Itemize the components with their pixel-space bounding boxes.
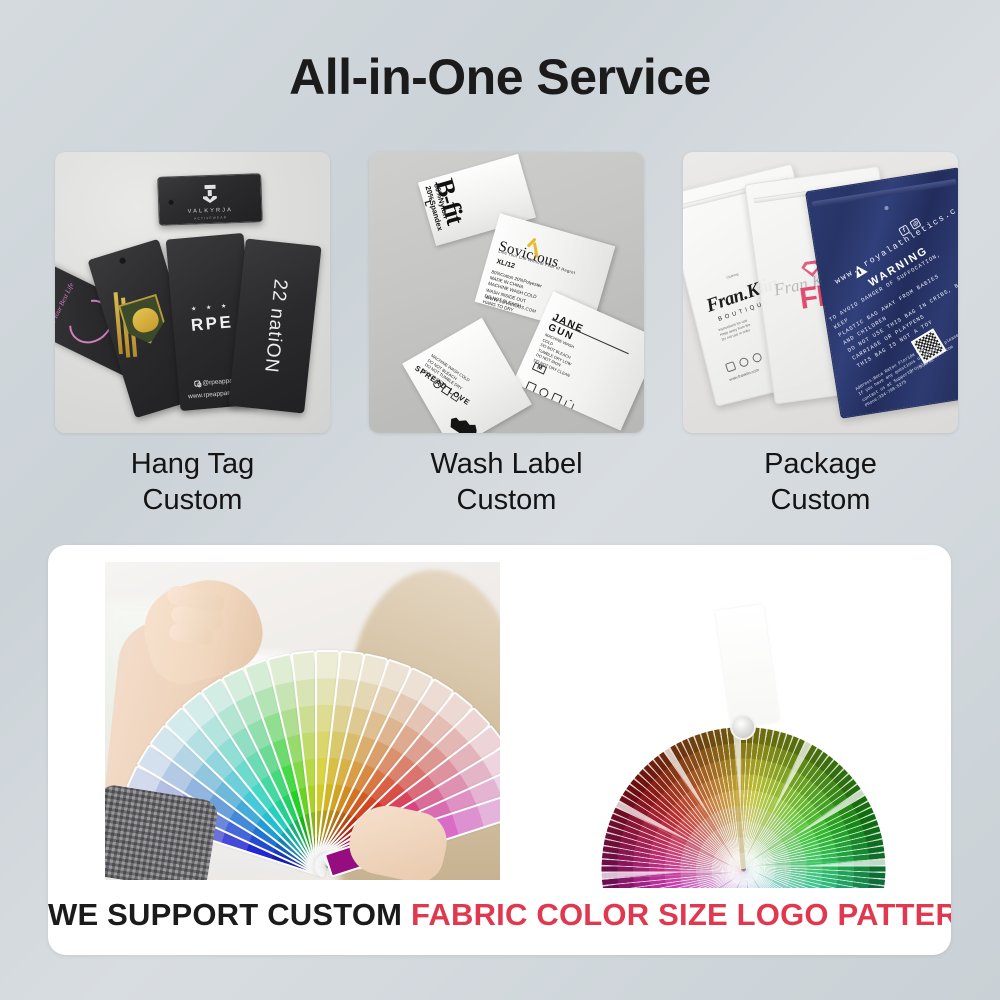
support-highlight-text: FABRIC COLOR SIZE LOGO PATTERN	[411, 897, 951, 932]
caption-wash-label: Wash Label Custom	[369, 446, 644, 518]
wheel-white-tab	[715, 604, 779, 728]
hang-tag-photo-card[interactable]: VALKYRJA ACTIVEWEAR Live Your Best Life …	[55, 152, 330, 433]
instagram-icon	[194, 380, 201, 387]
franklin-top-text: Clothing	[726, 272, 739, 280]
package-photo-card[interactable]: Clothing Fran.Klin BOUTIQUE Instructions…	[683, 152, 958, 433]
vent-hole-icon	[884, 206, 889, 211]
franklin-fineprint-text: Instructions for use Keep away from fire…	[718, 318, 753, 343]
caption-wash-label-line1: Wash Label	[369, 446, 644, 482]
caption-hang-tag-line2: Custom	[55, 482, 330, 518]
service-card-row: VALKYRJA ACTIVEWEAR Live Your Best Life …	[55, 152, 958, 433]
support-prefix-text: WE SUPPORT CUSTOM	[48, 897, 411, 932]
radial-color-fan	[588, 572, 898, 882]
caption-package-line2: Custom	[683, 482, 958, 518]
suffocation-symbol-icon	[738, 357, 749, 368]
color-fan-deck-photo	[105, 562, 500, 880]
caption-wash-label-line2: Custom	[369, 482, 644, 518]
wheel-pivot-icon	[730, 714, 756, 740]
22nation-brand-text: 22 natiON	[259, 278, 291, 374]
animal-silhouette-icon	[447, 410, 482, 433]
sovicious-size-text: XL/12	[496, 258, 516, 270]
support-statement: WE SUPPORT CUSTOM FABRIC COLOR SIZE LOGO…	[48, 897, 951, 933]
tag-hole-icon	[118, 256, 127, 265]
tag-hole-icon	[168, 199, 174, 205]
no-crib-symbol-icon	[751, 352, 762, 363]
caption-package-line1: Package	[683, 446, 958, 482]
valkyrja-crest-icon	[201, 185, 218, 204]
recycle-symbol-icon	[725, 361, 736, 372]
page-title: All-in-One Service	[0, 48, 1000, 106]
caption-hang-tag-line1: Hang Tag	[55, 446, 330, 482]
caption-hang-tag: Hang Tag Custom	[55, 446, 330, 518]
caption-package: Package Custom	[683, 446, 958, 518]
bottom-image-row	[48, 562, 951, 887]
hang-tag-valkyrja: VALKYRJA ACTIVEWEAR	[157, 173, 263, 226]
caption-row: Hang Tag Custom Wash Label Custom Packag…	[55, 446, 958, 518]
color-wheel-photo	[573, 566, 913, 888]
valkyrja-sub-text: ACTIVEWEAR	[160, 214, 262, 222]
custom-support-card[interactable]: WE SUPPORT CUSTOM FABRIC COLOR SIZE LOGO…	[48, 545, 951, 955]
wash-label-photo-card[interactable]: B-fit 80%Nylon 20%Spandex L Sovicious Li…	[369, 152, 644, 433]
